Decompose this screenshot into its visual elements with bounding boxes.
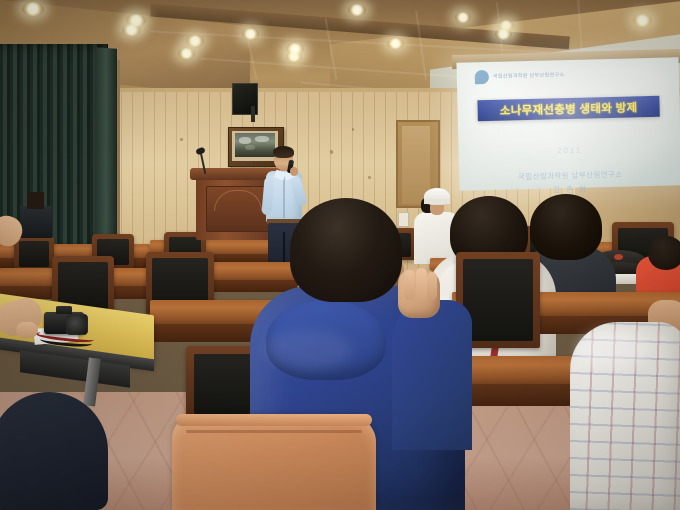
hoodie-person-arm bbox=[392, 300, 472, 450]
slide-logo-text: 국립산림과학원 남부산림연구소 bbox=[493, 71, 571, 80]
slide-year: 2011 bbox=[459, 143, 680, 157]
slide-title-bar: 소나무재선충병 생태와 방제 bbox=[477, 96, 659, 121]
speaker-hair bbox=[273, 146, 294, 158]
white-cap-band bbox=[424, 199, 450, 204]
ceiling-lamp bbox=[242, 28, 259, 40]
camera-prism bbox=[56, 306, 72, 314]
ceiling-lamp bbox=[286, 43, 304, 55]
camera-lens-icon bbox=[66, 314, 88, 335]
ceiling-lamp bbox=[348, 4, 366, 16]
person-seated-left bbox=[20, 206, 52, 238]
ceiling-lamp bbox=[178, 48, 195, 59]
ceiling-lamp bbox=[387, 38, 404, 49]
hoodie-person-finger bbox=[427, 272, 437, 300]
chair-pad bbox=[463, 259, 533, 341]
ceiling-lamp bbox=[22, 2, 44, 16]
chair-pad bbox=[19, 241, 49, 267]
hat-accent bbox=[614, 254, 623, 260]
foreground-chair-top bbox=[176, 414, 372, 426]
person-taking-notes-knee bbox=[0, 392, 108, 510]
slide-title: 소나무재선충병 생태와 방제 bbox=[500, 99, 638, 118]
ceiling-lamp bbox=[455, 12, 471, 23]
person-orange-shirt-head bbox=[648, 236, 680, 270]
ceiling-lamp bbox=[186, 35, 204, 47]
foreground-chair-seam bbox=[186, 430, 362, 433]
person-taking-notes-hand bbox=[16, 322, 38, 338]
curtain-edge bbox=[95, 47, 117, 254]
picture-artwork bbox=[235, 133, 275, 157]
projection-screen: 국립산림과학원 남부산림연구소 소나무재선충병 생태와 방제 2011 국립산림… bbox=[456, 57, 680, 190]
hoodie-highlight bbox=[262, 330, 352, 370]
light-switch[interactable] bbox=[398, 212, 409, 227]
hoodie-person-hair bbox=[290, 198, 402, 302]
person-dark-shirt-hair bbox=[530, 194, 602, 260]
wall-speaker-bracket bbox=[251, 106, 255, 122]
speaker-leg-separation bbox=[283, 232, 285, 265]
ceiling-lamp bbox=[495, 28, 512, 40]
hoodie-person-finger bbox=[416, 268, 427, 300]
lecture-hall-photo: 국립산림과학원 남부산림연구소 소나무재선충병 생태와 방제 2011 국립산림… bbox=[0, 0, 680, 510]
wood-knot bbox=[368, 176, 371, 179]
ceiling-lamp bbox=[122, 24, 141, 36]
speaker-hand bbox=[290, 167, 298, 176]
wood-knot bbox=[352, 128, 354, 131]
wood-knot bbox=[330, 150, 333, 154]
plaid-shirt-highlight bbox=[578, 330, 648, 370]
person-seated-left-head bbox=[27, 192, 44, 209]
wood-knot bbox=[180, 138, 183, 141]
institute-logo-icon bbox=[475, 70, 489, 84]
ceiling-lamp bbox=[633, 14, 652, 27]
hoodie-person-finger bbox=[404, 270, 415, 300]
